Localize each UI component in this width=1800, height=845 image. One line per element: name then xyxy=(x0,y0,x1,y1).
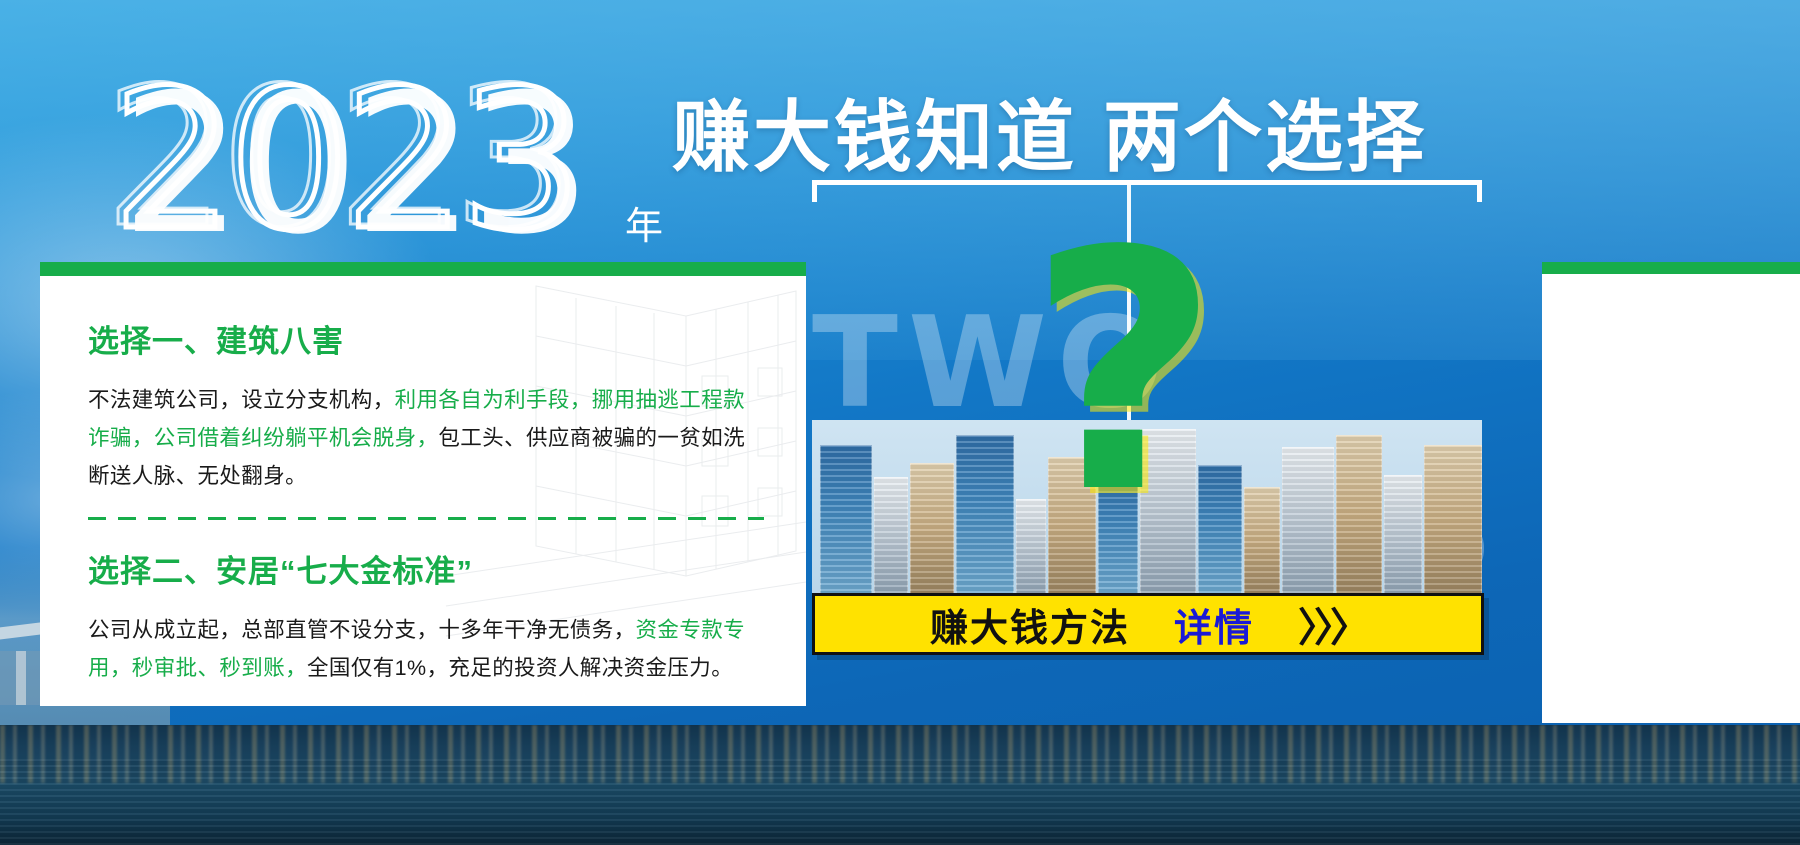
water-reflection xyxy=(0,725,1800,845)
year-solid: 2023 xyxy=(121,66,586,266)
content-card: 选择一、建筑八害 不法建筑公司，设立分支机构，利用各自为利手段，挪用抽逃工程款诈… xyxy=(40,276,806,706)
section-1-title: 选择一、建筑八害 xyxy=(88,316,764,361)
section-2-run-3: 全国仅有1%，充足的投资人解决资金压力。 xyxy=(307,656,733,680)
page-title: 赚大钱知道两个选择 xyxy=(672,75,1427,187)
cta-link-label: 详情 xyxy=(1174,597,1254,652)
headline-part-2: 两个选择 xyxy=(1103,93,1427,181)
right-green-bar xyxy=(1542,262,1800,274)
section-divider xyxy=(88,517,764,520)
headline-part-1: 赚大钱知道 xyxy=(672,93,1077,181)
section-1-run-1: 不法建筑公司，设立分支机构， xyxy=(88,388,395,412)
section-2-run-1: 公司从成立起，总部直管不设分支，十多年干净无债务， xyxy=(88,618,636,642)
headline-rule-tick-right xyxy=(1477,180,1482,202)
section-2-body: 公司从成立起，总部直管不设分支，十多年干净无债务，资金专款专用，秒审批、秒到账，… xyxy=(88,611,764,687)
section-1-body: 不法建筑公司，设立分支机构，利用各自为利手段，挪用抽逃工程款诈骗，公司借着纠纷躺… xyxy=(88,381,764,495)
section-2-title: 选择二、安居“七大金标准” xyxy=(88,546,764,591)
headline-rule-tick-left xyxy=(812,180,817,202)
banner-stage: 2023 2023 2023 年 赚大钱知道两个选择 TWO CHOICES ?… xyxy=(0,0,1800,845)
cta-button[interactable]: 赚大钱方法 详情 〉〉〉 xyxy=(812,593,1484,655)
right-white-panel xyxy=(1542,274,1800,723)
cta-main-label: 赚大钱方法 xyxy=(930,597,1130,652)
chevron-right-icon: 〉〉〉 xyxy=(1298,595,1366,653)
card-top-accent-bar xyxy=(40,262,806,276)
question-mark-graphic: ? xyxy=(1028,208,1219,538)
year-graphic: 2023 2023 2023 xyxy=(112,62,712,262)
year-suffix-label: 年 xyxy=(625,195,664,250)
